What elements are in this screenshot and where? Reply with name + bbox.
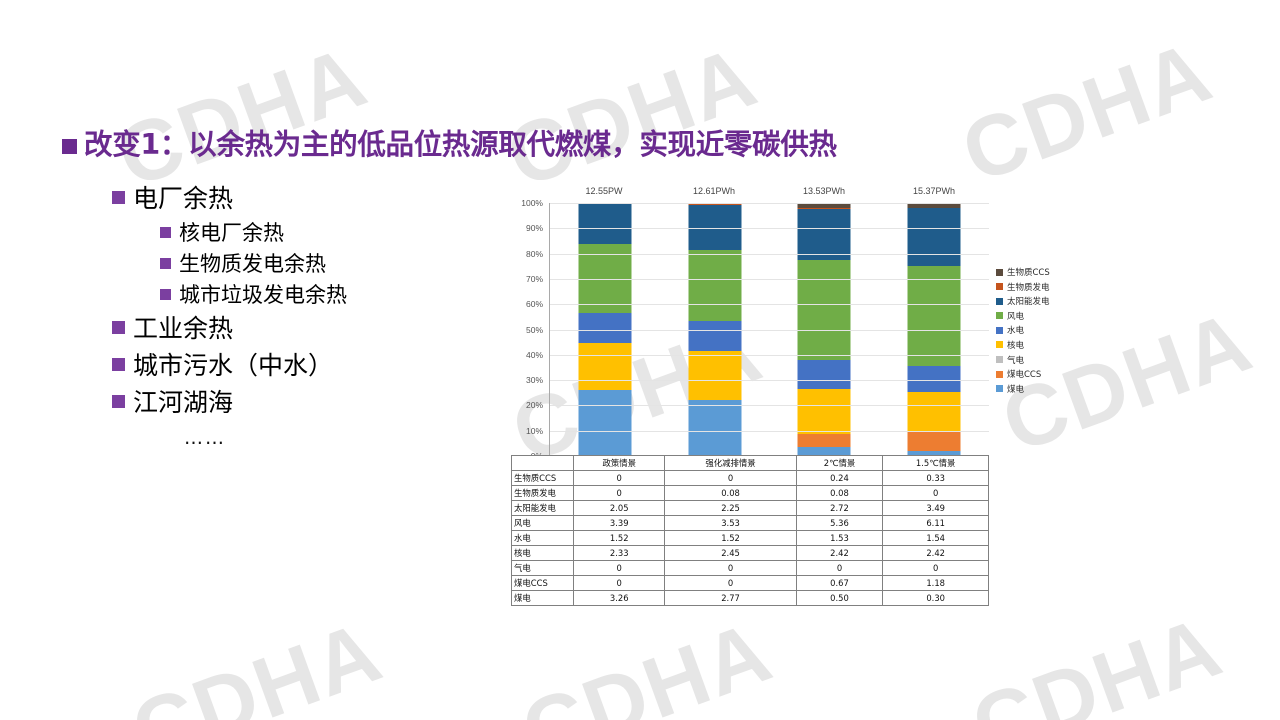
legend-swatch-icon — [996, 371, 1003, 378]
chart-plot-wrapper: 100%90%80%70%60%50%40%30%20%10%0% — [511, 203, 989, 456]
table-cell: 0 — [574, 561, 665, 576]
chart-gridline — [550, 405, 989, 406]
table-cell: 1.53 — [796, 531, 883, 546]
legend-item[interactable]: 气电 — [996, 354, 1050, 366]
legend-item-label: 风电 — [1007, 310, 1024, 322]
chart-legend: 生物质CCS生物质发电太阳能发电风电水电核电气电煤电CCS煤电 — [996, 266, 1050, 397]
table-row-header: 核电 — [512, 546, 574, 561]
table-cell: 2.42 — [883, 546, 989, 561]
table-row: 核电2.332.452.422.42 — [512, 546, 989, 561]
table-cell: 2.45 — [665, 546, 796, 561]
table-cell: 0 — [883, 486, 989, 501]
table-cell: 0.08 — [665, 486, 796, 501]
chart-bar-segment[interactable] — [688, 205, 741, 250]
table-cell: 0 — [574, 576, 665, 591]
bullet-item-label: 生物质发电余热 — [179, 250, 326, 279]
bullet-square-icon — [160, 258, 171, 269]
chart-bar-segment[interactable] — [688, 351, 741, 400]
table-cell: 3.49 — [883, 501, 989, 516]
legend-swatch-icon — [996, 283, 1003, 290]
bullet-square-icon — [112, 358, 125, 371]
table-cell: 2.42 — [796, 546, 883, 561]
page-title: 改变1：以余热为主的低品位热源取代燃煤，实现近零碳供热 — [62, 130, 837, 160]
bullet-item-level2: 电厂余热 — [112, 182, 512, 215]
table-cell: 0 — [665, 561, 796, 576]
chart-bar-segment[interactable] — [798, 209, 851, 260]
bullet-square-icon — [112, 191, 125, 204]
table-row-header: 水电 — [512, 531, 574, 546]
bullet-item-level2: 工业余热 — [112, 312, 512, 345]
chart-bar-segment[interactable] — [798, 260, 851, 360]
chart-gridline — [550, 254, 989, 255]
table-cell: 2.33 — [574, 546, 665, 561]
table-cell: 2.72 — [796, 501, 883, 516]
chart-bar-segment[interactable] — [908, 266, 961, 367]
chart-y-axis: 100%90%80%70%60%50%40%30%20%10%0% — [511, 203, 547, 456]
legend-item-label: 生物质发电 — [1007, 281, 1050, 293]
table-row: 水电1.521.521.531.54 — [512, 531, 989, 546]
table-row: 煤电3.262.770.500.30 — [512, 591, 989, 606]
chart-gridline — [550, 380, 989, 381]
legend-item-label: 煤电CCS — [1007, 368, 1041, 380]
table-cell: 1.52 — [665, 531, 796, 546]
bullet-list: 电厂余热核电厂余热生物质发电余热城市垃圾发电余热工业余热城市污水（中水）江河湖海… — [112, 182, 512, 449]
title-bullet-square-icon — [62, 139, 77, 154]
legend-swatch-icon — [996, 327, 1003, 334]
bullet-ellipsis: …… — [184, 427, 512, 449]
watermark-text: CDHA — [950, 22, 1225, 203]
table-row-header: 煤电CCS — [512, 576, 574, 591]
bullet-item-label: 城市垃圾发电余热 — [179, 281, 347, 310]
legend-item-label: 水电 — [1007, 324, 1024, 336]
bullet-item-level3: 城市垃圾发电余热 — [160, 281, 512, 310]
chart-bar-segment[interactable] — [578, 203, 631, 244]
table-cell: 1.52 — [574, 531, 665, 546]
table-row-header: 生物质CCS — [512, 471, 574, 486]
table-cell: 6.11 — [883, 516, 989, 531]
legend-swatch-icon — [996, 298, 1003, 305]
chart-bar-segment[interactable] — [908, 208, 961, 265]
slide-canvas: CDHACDHACDHACDHACDHACDHACDHACDHA 改变1：以余热… — [0, 0, 1280, 720]
table-column-header: 政策情景 — [574, 456, 665, 471]
chart-gridline — [550, 431, 989, 432]
chart-bar-segment[interactable] — [688, 400, 741, 456]
chart-y-tick-label: 60% — [526, 299, 543, 309]
legend-swatch-icon — [996, 312, 1003, 319]
table-row: 风电3.393.535.366.11 — [512, 516, 989, 531]
table-row: 生物质CCS000.240.33 — [512, 471, 989, 486]
table-cell: 2.25 — [665, 501, 796, 516]
table-cell: 0 — [796, 561, 883, 576]
watermark-text: CDHA — [120, 602, 395, 720]
table-column-header: 1.5℃情景 — [883, 456, 989, 471]
chart-bar-segment[interactable] — [908, 392, 961, 432]
table-cell: 0.33 — [883, 471, 989, 486]
chart-bar-segment[interactable] — [798, 360, 851, 389]
data-table: 政策情景强化减排情景2℃情景1.5℃情景生物质CCS000.240.33生物质发… — [511, 455, 989, 606]
table-cell: 0.24 — [796, 471, 883, 486]
table-row-header: 生物质发电 — [512, 486, 574, 501]
table-column-header: 2℃情景 — [796, 456, 883, 471]
table-cell: 3.26 — [574, 591, 665, 606]
table-cell: 3.53 — [665, 516, 796, 531]
table-cell: 1.54 — [883, 531, 989, 546]
legend-item-label: 煤电 — [1007, 383, 1024, 395]
chart-gridline — [550, 228, 989, 229]
legend-item[interactable]: 风电 — [996, 310, 1050, 322]
table-cell: 0 — [665, 471, 796, 486]
page-title-text: 改变1：以余热为主的低品位热源取代燃煤，实现近零碳供热 — [84, 130, 837, 160]
table-cell: 1.18 — [883, 576, 989, 591]
table-cell: 0 — [574, 486, 665, 501]
table-row: 气电0000 — [512, 561, 989, 576]
table-row-header: 太阳能发电 — [512, 501, 574, 516]
bullet-item-label: 江河湖海 — [133, 386, 233, 419]
chart-y-tick-label: 70% — [526, 274, 543, 284]
bullet-square-icon — [112, 395, 125, 408]
table-row: 生物质发电00.080.080 — [512, 486, 989, 501]
table-row-header: 煤电 — [512, 591, 574, 606]
chart-y-tick-label: 50% — [526, 325, 543, 335]
bullet-item-level2: 城市污水（中水） — [112, 349, 512, 382]
bullet-square-icon — [112, 321, 125, 334]
chart-column-totals: 12.55PW12.61PWh13.53PWh15.37PWh — [511, 186, 989, 203]
legend-item[interactable]: 太阳能发电 — [996, 295, 1050, 307]
table-corner-cell — [512, 456, 574, 471]
chart-column-total: 15.37PWh — [879, 186, 989, 196]
chart-gridline — [550, 279, 989, 280]
bullet-square-icon — [160, 227, 171, 238]
data-table-body: 政策情景强化减排情景2℃情景1.5℃情景生物质CCS000.240.33生物质发… — [512, 456, 989, 606]
table-cell: 0 — [574, 471, 665, 486]
table-cell: 2.77 — [665, 591, 796, 606]
table-row-header: 气电 — [512, 561, 574, 576]
chart-y-tick-label: 30% — [526, 375, 543, 385]
watermark-text: CDHA — [510, 602, 785, 720]
watermark-text: CDHA — [105, 27, 380, 208]
chart-gridline — [550, 330, 989, 331]
chart-y-tick-label: 80% — [526, 249, 543, 259]
bullet-item-level2: 江河湖海 — [112, 386, 512, 419]
table-row: 太阳能发电2.052.252.723.49 — [512, 501, 989, 516]
table-cell: 0 — [883, 561, 989, 576]
bullet-item-level3: 生物质发电余热 — [160, 250, 512, 279]
chart-column-total: 13.53PWh — [769, 186, 879, 196]
table-cell: 0.08 — [796, 486, 883, 501]
table-column-header: 强化减排情景 — [665, 456, 796, 471]
chart-y-tick-label: 90% — [526, 223, 543, 233]
chart-column-total: 12.55PW — [549, 186, 659, 196]
bullet-item-label: 工业余热 — [133, 312, 233, 345]
legend-item-label: 核电 — [1007, 339, 1024, 351]
stacked-bar-chart: 12.55PW12.61PWh13.53PWh15.37PWh 100%90%8… — [511, 186, 989, 456]
bullet-item-label: 核电厂余热 — [179, 219, 284, 248]
chart-bar-segment[interactable] — [798, 434, 851, 447]
chart-bar-segment[interactable] — [688, 250, 741, 321]
legend-item[interactable]: 生物质CCS — [996, 266, 1050, 278]
chart-bar-segment[interactable] — [908, 432, 961, 451]
table-cell: 0.50 — [796, 591, 883, 606]
table-cell: 0.67 — [796, 576, 883, 591]
table-cell: 3.39 — [574, 516, 665, 531]
table-header-row: 政策情景强化减排情景2℃情景1.5℃情景 — [512, 456, 989, 471]
chart-gridline — [550, 304, 989, 305]
legend-item[interactable]: 水电 — [996, 324, 1050, 336]
table-row: 煤电CCS000.671.18 — [512, 576, 989, 591]
chart-gridline — [550, 203, 989, 204]
chart-plot-area — [549, 203, 989, 456]
legend-item[interactable]: 核电 — [996, 339, 1050, 351]
chart-y-tick-label: 10% — [526, 426, 543, 436]
table-cell: 0 — [665, 576, 796, 591]
legend-swatch-icon — [996, 341, 1003, 348]
bullet-square-icon — [160, 289, 171, 300]
chart-y-tick-label: 20% — [526, 400, 543, 410]
bullet-item-label: 城市污水（中水） — [133, 349, 333, 382]
legend-item-label: 太阳能发电 — [1007, 295, 1050, 307]
legend-item[interactable]: 煤电 — [996, 383, 1050, 395]
bullet-item-label: 电厂余热 — [133, 182, 233, 215]
chart-gridline — [550, 355, 989, 356]
legend-item[interactable]: 生物质发电 — [996, 281, 1050, 293]
table-cell: 0.30 — [883, 591, 989, 606]
chart-bar-segment[interactable] — [578, 313, 631, 344]
chart-y-tick-label: 100% — [521, 198, 543, 208]
legend-swatch-icon — [996, 269, 1003, 276]
legend-swatch-icon — [996, 356, 1003, 363]
watermark-text: CDHA — [960, 597, 1235, 720]
legend-item[interactable]: 煤电CCS — [996, 368, 1050, 380]
chart-bar-segment[interactable] — [688, 321, 741, 352]
watermark-text: CDHA — [495, 27, 770, 208]
chart-column-total: 12.61PWh — [659, 186, 769, 196]
bullet-item-level3: 核电厂余热 — [160, 219, 512, 248]
legend-item-label: 气电 — [1007, 354, 1024, 366]
table-row-header: 风电 — [512, 516, 574, 531]
chart-bar-segment[interactable] — [798, 389, 851, 434]
chart-bar-segment[interactable] — [578, 343, 631, 390]
table-cell: 2.05 — [574, 501, 665, 516]
chart-y-tick-label: 40% — [526, 350, 543, 360]
chart-bar-segment[interactable] — [578, 390, 631, 456]
legend-swatch-icon — [996, 385, 1003, 392]
table-cell: 5.36 — [796, 516, 883, 531]
legend-item-label: 生物质CCS — [1007, 266, 1050, 278]
